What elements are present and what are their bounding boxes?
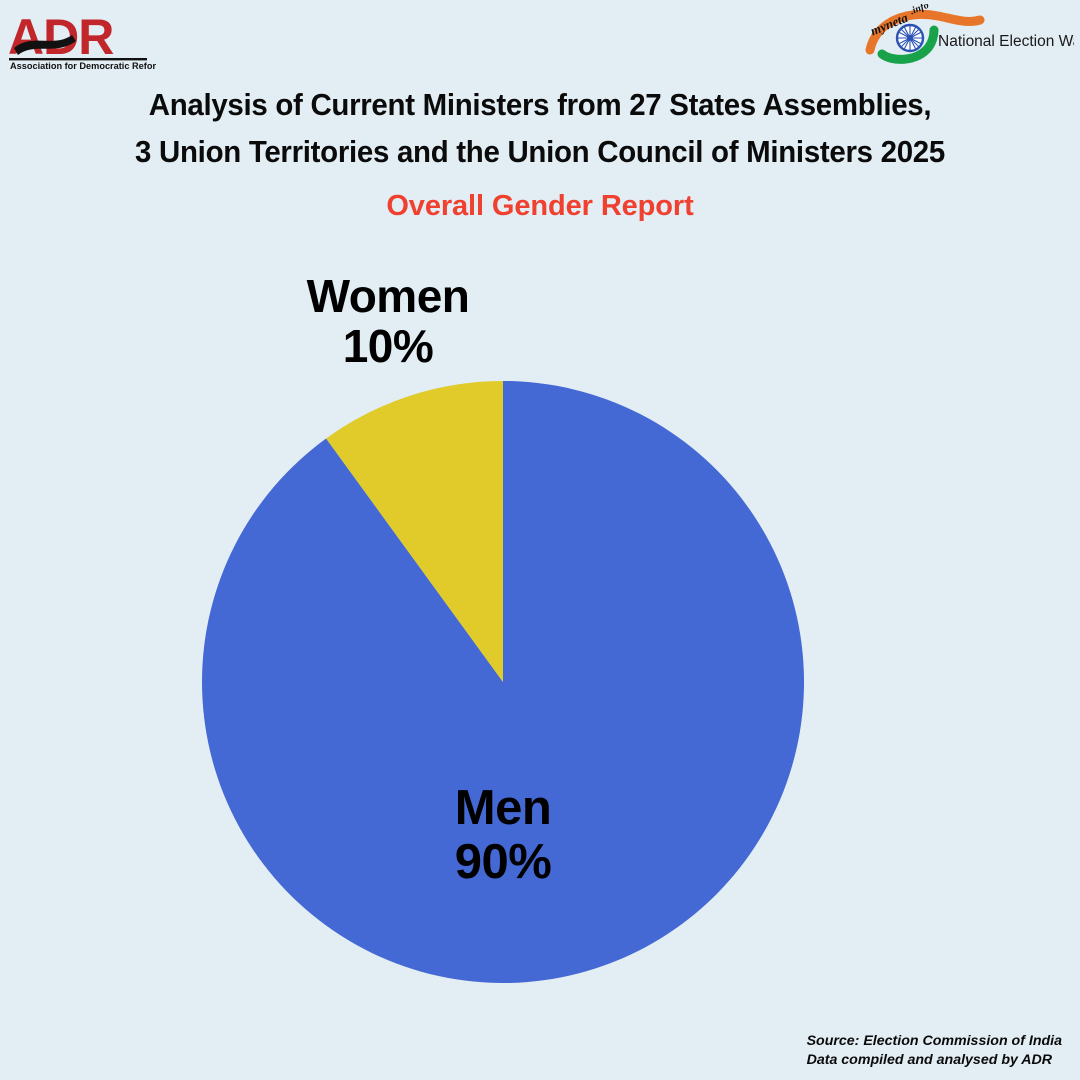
svg-text:ADR: ADR bbox=[8, 9, 114, 65]
ashoka-chakra-icon bbox=[896, 24, 924, 52]
women-label-name: Women bbox=[258, 272, 518, 322]
adr-logo-graphic: ADR Association for Democratic Reforms bbox=[6, 8, 156, 72]
page-title: Analysis of Current Ministers from 27 St… bbox=[0, 82, 1080, 176]
new-wordmark-text: National Election Watch bbox=[938, 33, 1074, 50]
women-label-percent: 10% bbox=[258, 322, 518, 372]
national-election-watch-logo: myneta .info National Election Watch bbox=[862, 4, 1074, 66]
adr-tagline-text: Association for Democratic Reforms bbox=[10, 61, 156, 71]
title-line-2: 3 Union Territories and the Union Counci… bbox=[19, 129, 1061, 176]
source-note: Source: Election Commission of India Dat… bbox=[807, 1032, 1062, 1070]
source-line-2: Data compiled and analysed by ADR bbox=[807, 1051, 1062, 1070]
page-subtitle: Overall Gender Report bbox=[0, 190, 1080, 223]
men-label-name: Men bbox=[373, 782, 633, 836]
men-slice-label: Men 90% bbox=[373, 782, 633, 890]
pie-chart-svg bbox=[202, 381, 804, 983]
title-line-1: Analysis of Current Ministers from 27 St… bbox=[19, 82, 1061, 129]
adr-logo: ADR Association for Democratic Reforms bbox=[6, 8, 156, 72]
pie-chart bbox=[202, 381, 804, 983]
pie-slice-men[interactable] bbox=[202, 381, 804, 983]
men-label-percent: 90% bbox=[373, 836, 633, 890]
source-line-1: Source: Election Commission of India bbox=[807, 1032, 1062, 1051]
women-slice-label: Women 10% bbox=[258, 272, 518, 371]
new-logo-graphic: myneta .info National Election Watch bbox=[862, 4, 1074, 66]
